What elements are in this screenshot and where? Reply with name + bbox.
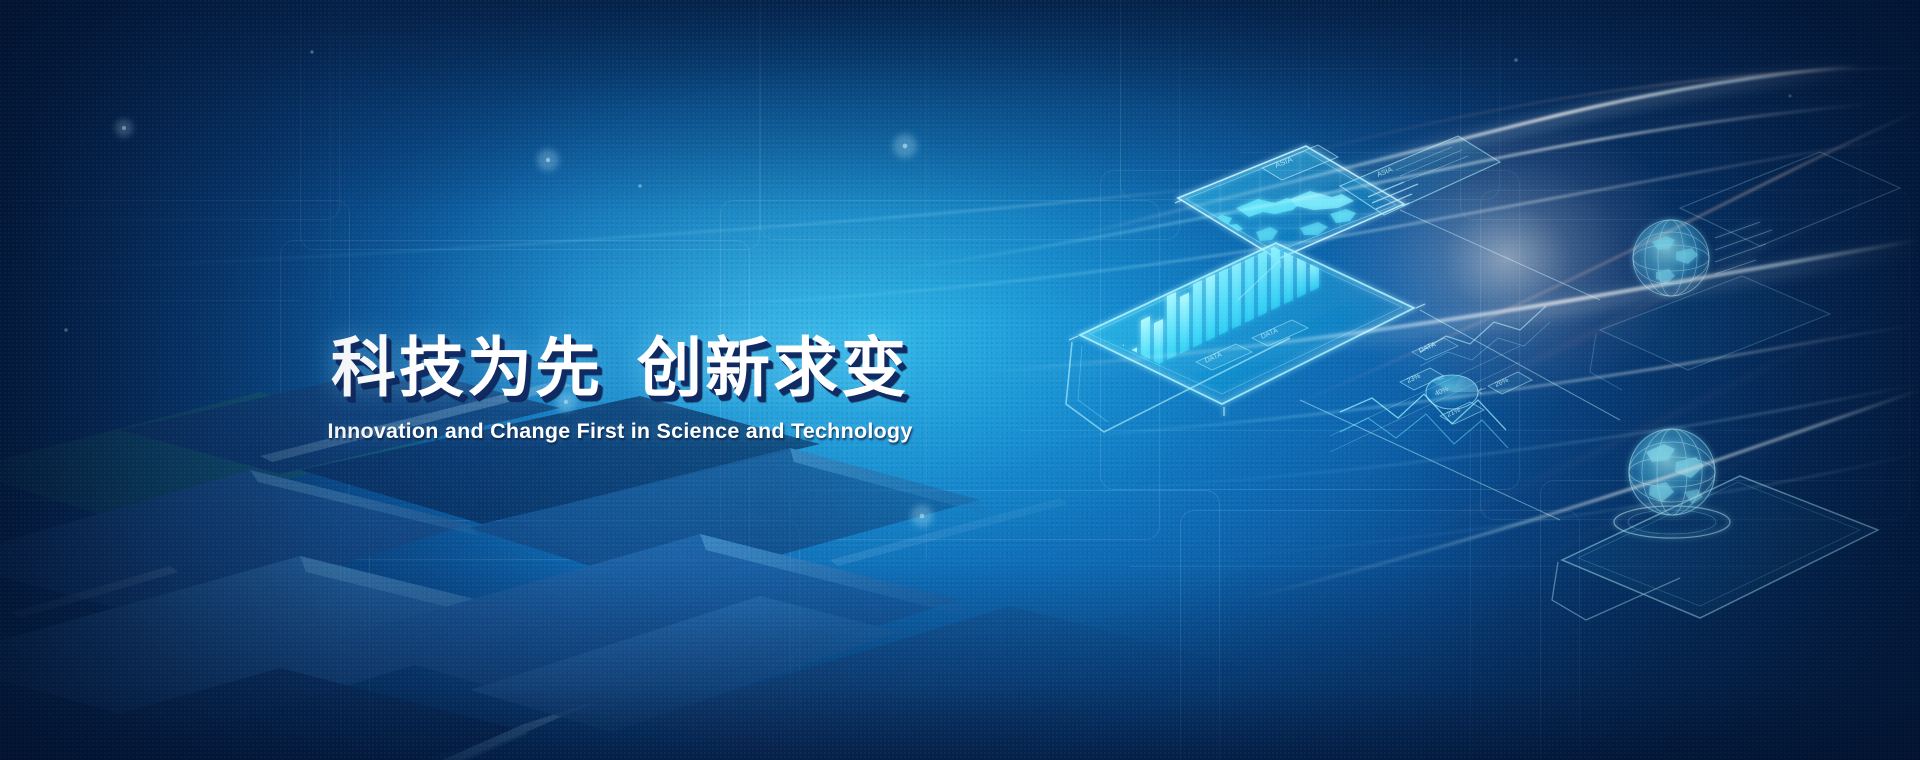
tech-banner: ASIA ASIA <box>0 0 1920 760</box>
vignette-overlay <box>0 0 1920 760</box>
